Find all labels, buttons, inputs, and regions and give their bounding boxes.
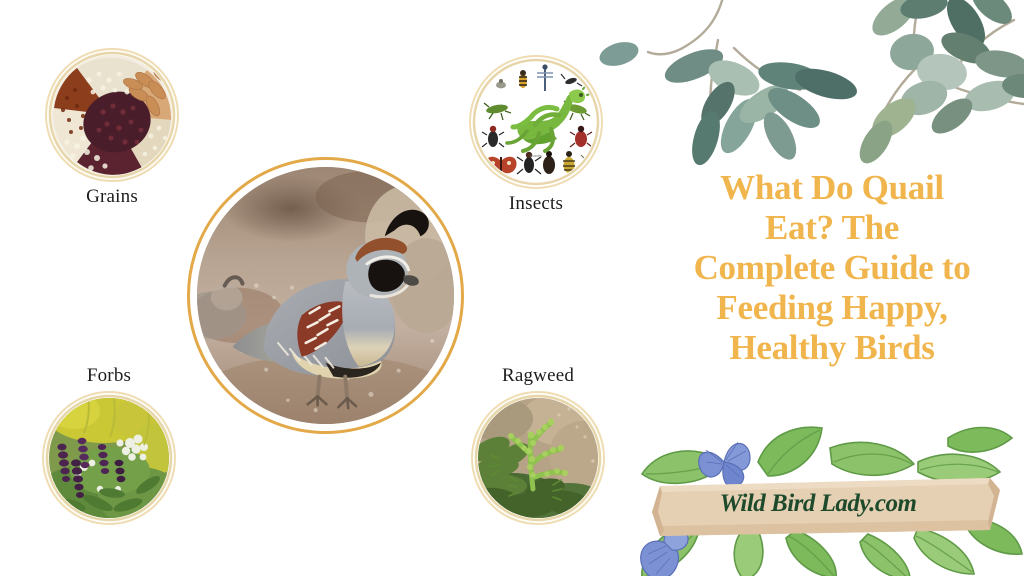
food-label-insects: Insects: [469, 193, 603, 215]
title-line-5: Healthy Birds: [644, 328, 1020, 368]
title-line-2: Eat? The: [644, 208, 1020, 248]
title-line-1: What Do Quail: [644, 168, 1020, 208]
grains-image: [45, 48, 179, 182]
ragweed-image: [471, 391, 605, 525]
food-item-grains[interactable]: Grains: [45, 48, 179, 208]
site-name: Wild Bird Lady.com: [668, 478, 968, 530]
infographic-canvas: Grains: [0, 0, 1024, 576]
food-item-ragweed[interactable]: Ragweed: [471, 365, 605, 525]
gambels-quail-photo: [197, 167, 454, 424]
food-item-forbs[interactable]: Forbs: [42, 365, 176, 525]
food-label-ragweed: Ragweed: [471, 365, 605, 387]
insects-image: mantis: [469, 55, 603, 189]
food-label-grains: Grains: [45, 186, 179, 208]
food-item-insects[interactable]: mantis Insects: [469, 55, 603, 215]
forbs-image: [42, 391, 176, 525]
site-banner[interactable]: Wild Bird Lady.com: [668, 478, 968, 530]
eucalyptus-decoration: [594, 0, 1024, 186]
hero-quail-circle: [187, 157, 464, 434]
svg-text:mantis: mantis: [530, 153, 542, 158]
title-line-4: Feeding Happy,: [644, 288, 1020, 328]
page-title: What Do Quail Eat? The Complete Guide to…: [644, 168, 1020, 367]
title-line-3: Complete Guide to: [644, 248, 1020, 288]
food-label-forbs: Forbs: [42, 365, 176, 387]
